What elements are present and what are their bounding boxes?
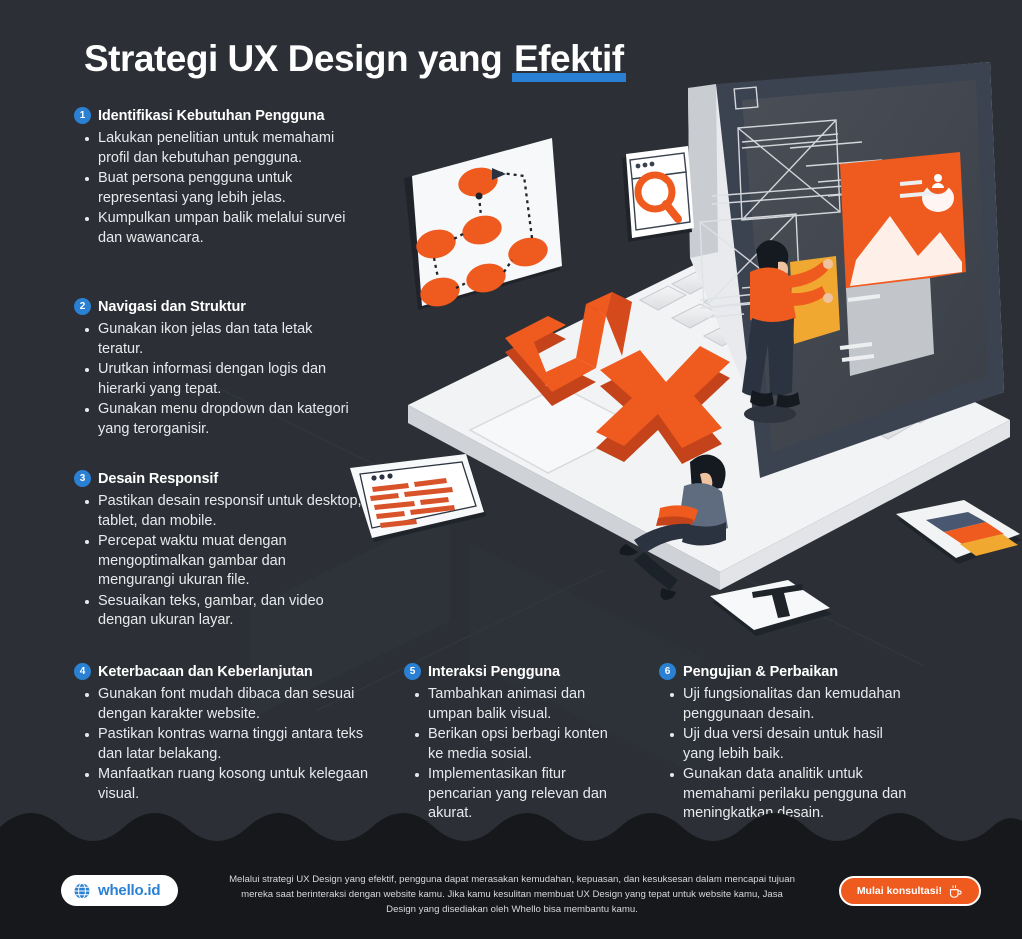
- step-badge-2: 2: [74, 298, 91, 315]
- step-bullets-6: Uji fungsionalitas dan kemudahan penggun…: [659, 685, 909, 824]
- step-title-5: Interaksi Pengguna: [428, 664, 560, 680]
- step-header-3: 3 Desain Responsif: [74, 470, 364, 487]
- step-bullets-1: Lakukan penelitian untuk memahami profil…: [74, 129, 364, 248]
- flowchart-card-icon: [404, 138, 562, 310]
- wave-divider: [0, 809, 1022, 843]
- list-item: Sesuaikan teks, gambar, dan video dengan…: [84, 592, 364, 631]
- step-block-2: 2 Navigasi dan Struktur Gunakan ikon jel…: [74, 298, 354, 440]
- globe-www-icon: [73, 882, 91, 900]
- step-header-5: 5 Interaksi Pengguna: [404, 663, 619, 680]
- image-placeholder-icon: [840, 152, 966, 292]
- list-item: Kumpulkan umpan balik melalui survei dan…: [84, 209, 364, 248]
- step-title-3: Desain Responsif: [98, 471, 218, 487]
- list-item: Urutkan informasi dengan logis dan hiera…: [84, 360, 354, 399]
- coffee-cup-icon: [948, 884, 963, 899]
- footer-paragraph: Melalui strategi UX Design yang efektif,…: [228, 872, 796, 917]
- step-header-6: 6 Pengujian & Perbaikan: [659, 663, 909, 680]
- step-badge-5: 5: [404, 663, 421, 680]
- list-item: Gunakan font mudah dibaca dan sesuai den…: [84, 685, 374, 724]
- start-consultation-button[interactable]: Mulai konsultasi!: [839, 876, 981, 906]
- user-avatar-icon: [926, 170, 950, 194]
- step-block-5: 5 Interaksi Pengguna Tambahkan animasi d…: [404, 663, 619, 825]
- list-item: Uji fungsionalitas dan kemudahan penggun…: [669, 685, 909, 724]
- step-title-4: Keterbacaan dan Keberlanjutan: [98, 664, 313, 680]
- page-title: Strategi UX Design yang Efektif: [84, 38, 626, 80]
- logo-text: whello.id: [98, 882, 160, 899]
- list-item: Buat persona pengguna untuk representasi…: [84, 169, 364, 208]
- search-check-browser-icon: [622, 146, 694, 242]
- whello-logo[interactable]: whello.id: [61, 875, 178, 906]
- step-block-1: 1 Identifikasi Kebutuhan Pengguna Lakuka…: [74, 107, 364, 249]
- step-bullets-2: Gunakan ikon jelas dan tata letak teratu…: [74, 320, 354, 439]
- title-highlight: Efektif: [512, 38, 626, 80]
- infographic-page: Strategi UX Design yang Efektif 1 Identi…: [0, 0, 1022, 939]
- step-header-2: 2 Navigasi dan Struktur: [74, 298, 354, 315]
- step-header-4: 4 Keterbacaan dan Keberlanjutan: [74, 663, 374, 680]
- typography-card-icon: [710, 580, 832, 636]
- title-lead: Strategi UX Design yang: [84, 38, 512, 79]
- step-block-4: 4 Keterbacaan dan Keberlanjutan Gunakan …: [74, 663, 374, 805]
- list-item: Lakukan penelitian untuk memahami profil…: [84, 129, 364, 168]
- list-item: Gunakan menu dropdown dan kategori yang …: [84, 400, 354, 439]
- step-title-1: Identifikasi Kebutuhan Pengguna: [98, 108, 325, 124]
- color-swatch-card-icon: [896, 500, 1022, 564]
- step-bullets-3: Pastikan desain responsif untuk desktop,…: [74, 492, 364, 631]
- list-item: Berikan opsi berbagi konten ke media sos…: [414, 725, 619, 764]
- step-title-2: Navigasi dan Struktur: [98, 299, 246, 315]
- step-block-3: 3 Desain Responsif Pastikan desain respo…: [74, 470, 364, 632]
- step-badge-3: 3: [74, 470, 91, 487]
- list-item: Gunakan ikon jelas dan tata letak teratu…: [84, 320, 354, 359]
- step-badge-6: 6: [659, 663, 676, 680]
- list-item: Uji dua versi desain untuk hasil yang le…: [669, 725, 909, 764]
- list-item: Tambahkan animasi dan umpan balik visual…: [414, 685, 619, 724]
- step-bullets-5: Tambahkan animasi dan umpan balik visual…: [404, 685, 619, 824]
- step-title-6: Pengujian & Perbaikan: [683, 664, 838, 680]
- step-badge-4: 4: [74, 663, 91, 680]
- list-item: Pastikan kontras warna tinggi antara tek…: [84, 725, 374, 764]
- list-item: Percepat waktu muat dengan mengoptimalka…: [84, 532, 364, 591]
- list-item: Pastikan desain responsif untuk desktop,…: [84, 492, 364, 531]
- cta-label: Mulai konsultasi!: [857, 885, 942, 897]
- list-item: Manfaatkan ruang kosong untuk kelegaan v…: [84, 765, 374, 804]
- step-bullets-4: Gunakan font mudah dibaca dan sesuai den…: [74, 685, 374, 804]
- step-header-1: 1 Identifikasi Kebutuhan Pengguna: [74, 107, 364, 124]
- code-window-card-icon: [350, 454, 486, 542]
- step-block-6: 6 Pengujian & Perbaikan Uji fungsionalit…: [659, 663, 909, 825]
- step-badge-1: 1: [74, 107, 91, 124]
